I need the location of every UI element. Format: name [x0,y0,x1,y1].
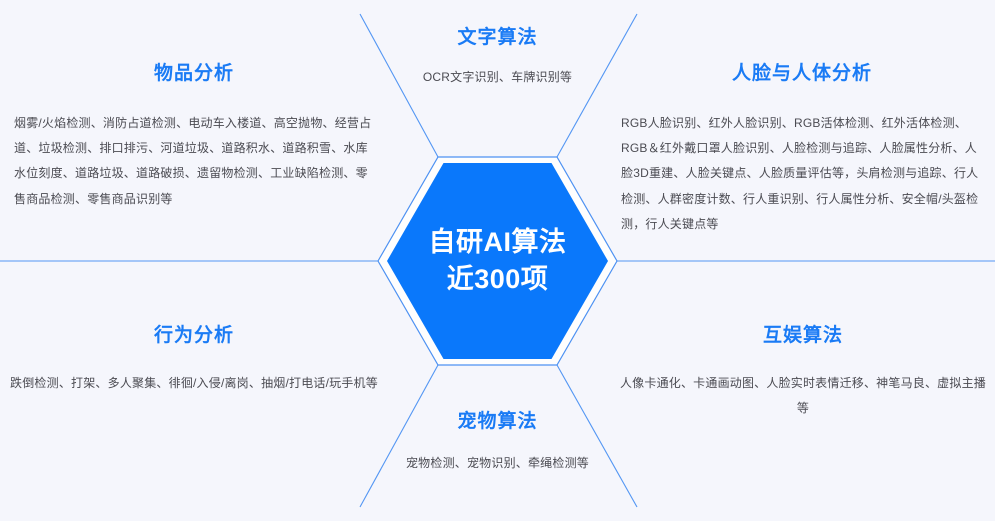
sector-pet-algorithm-title: 宠物算法 [357,406,638,433]
sector-pet-algorithm-body: 宠物检测、宠物识别、牵绳检测等 [357,451,638,476]
sector-face-body-analysis-title: 人脸与人体分析 [621,58,983,85]
sector-text-algorithm-body: OCR文字识别、车牌识别等 [357,65,638,90]
sector-object-analysis-title: 物品分析 [14,58,374,85]
sector-object-analysis: 物品分析 烟雾/火焰检测、消防占道检测、电动车入楼道、高空抛物、经营占道、垃圾检… [14,58,374,212]
sector-entertainment-algorithm: 互娱算法 人像卡通化、卡通画动图、人脸实时表情迁移、神笔马良、虚拟主播等 [617,320,989,421]
sector-behavior-analysis: 行为分析 跌倒检测、打架、多人聚集、徘徊/入侵/离岗、抽烟/打电话/玩手机等 [8,320,380,396]
sector-behavior-analysis-body: 跌倒检测、打架、多人聚集、徘徊/入侵/离岗、抽烟/打电话/玩手机等 [8,371,380,396]
sector-entertainment-algorithm-body: 人像卡通化、卡通画动图、人脸实时表情迁移、神笔马良、虚拟主播等 [617,371,989,421]
sector-text-algorithm: 文字算法 OCR文字识别、车牌识别等 [357,22,638,90]
sector-behavior-analysis-title: 行为分析 [8,320,380,347]
sector-face-body-analysis: 人脸与人体分析 RGB人脸识别、红外人脸识别、RGB活体检测、红外活体检测、RG… [621,58,983,237]
sector-object-analysis-body: 烟雾/火焰检测、消防占道检测、电动车入楼道、高空抛物、经营占道、垃圾检测、排口排… [14,111,374,212]
sector-text-algorithm-title: 文字算法 [357,22,638,49]
sector-face-body-analysis-body: RGB人脸识别、红外人脸识别、RGB活体检测、红外活体检测、RGB＆红外戴口罩人… [621,111,983,237]
infographic-canvas: 自研AI算法 近300项 物品分析 烟雾/火焰检测、消防占道检测、电动车入楼道、… [0,0,995,521]
sector-pet-algorithm: 宠物算法 宠物检测、宠物识别、牵绳检测等 [357,406,638,476]
sector-entertainment-algorithm-title: 互娱算法 [617,320,989,347]
